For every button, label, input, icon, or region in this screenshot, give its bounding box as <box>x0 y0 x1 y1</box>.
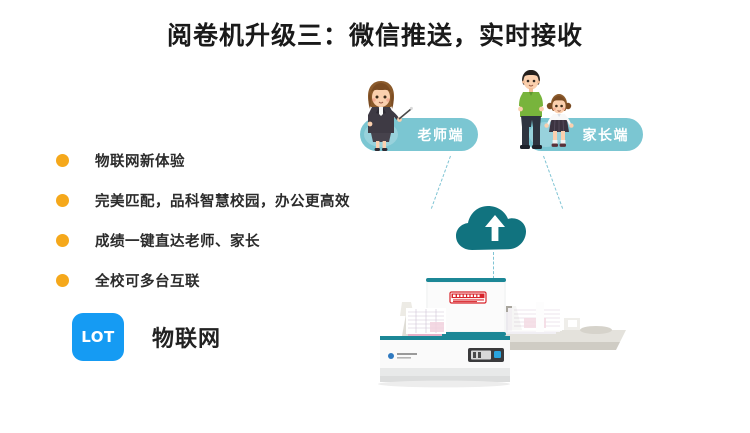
bullet-list: 物联网新体验 完美匹配，品科智慧校园，办公更高效 成绩一键直达老师、家长 全校可… <box>56 140 356 300</box>
teacher-figure-icon <box>354 78 414 152</box>
bullet-dot-icon <box>56 234 69 247</box>
bullet-dot-icon <box>56 274 69 287</box>
bullet-dot-icon <box>56 194 69 207</box>
slide-canvas: 阅卷机升级三：微信推送，实时接收 物联网新体验 完美匹配，品科智慧校园，办公更高… <box>0 0 750 433</box>
list-item: 完美匹配，品科智慧校园，办公更高效 <box>56 180 356 220</box>
bullet-text: 全校可多台互联 <box>95 270 200 291</box>
page-title: 阅卷机升级三：微信推送，实时接收 <box>0 16 750 52</box>
bullet-text: 成绩一键直达老师、家长 <box>95 230 260 251</box>
bullet-text: 完美匹配，品科智慧校园，办公更高效 <box>95 190 350 211</box>
connector-parent-to-cloud <box>543 156 563 209</box>
list-item: 全校可多台互联 <box>56 260 356 300</box>
list-item: 物联网新体验 <box>56 140 356 180</box>
list-item: 成绩一键直达老师、家长 <box>56 220 356 260</box>
cloud-upload-icon <box>452 200 538 252</box>
pill-label: 家长端 <box>583 125 630 145</box>
connector-teacher-to-cloud <box>431 156 451 209</box>
bullet-dot-icon <box>56 154 69 167</box>
pill-label: 老师端 <box>418 125 465 145</box>
omr-scanner-icon <box>372 272 632 392</box>
iot-label: 物联网 <box>152 321 221 353</box>
parent-and-child-figure-icon <box>512 68 584 152</box>
bullet-text: 物联网新体验 <box>95 150 185 171</box>
iot-badge-group: LOT 物联网 <box>72 313 221 361</box>
architecture-diagram: 老师端 家长端 <box>330 60 740 415</box>
iot-badge: LOT <box>72 313 124 361</box>
